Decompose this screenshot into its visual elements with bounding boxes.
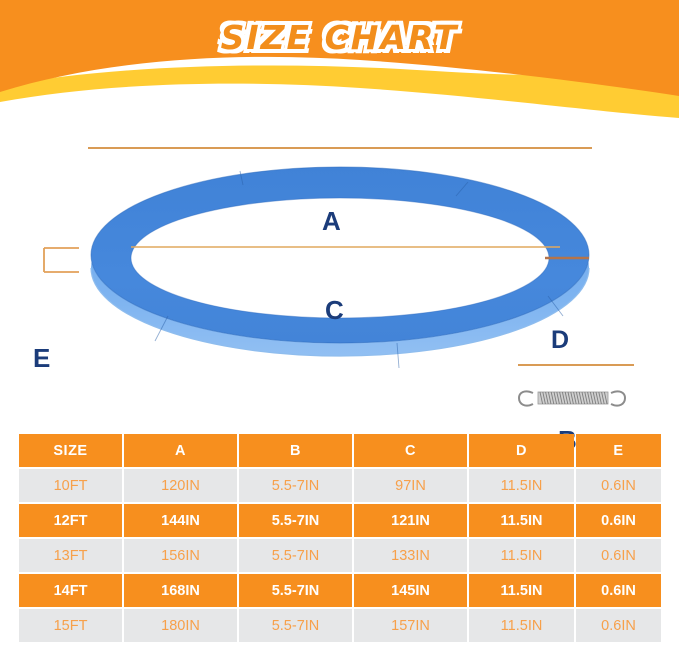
cell-d: 11.5IN bbox=[469, 539, 574, 572]
size-table-container: SIZE A B C D E 10FT 120IN 5.5-7IN 97IN 1… bbox=[17, 432, 657, 644]
cell-size: 12FT bbox=[19, 504, 122, 537]
cell-size: 15FT bbox=[19, 609, 122, 642]
cell-a: 144IN bbox=[124, 504, 237, 537]
cell-c: 97IN bbox=[354, 469, 467, 502]
column-header-a: A bbox=[124, 434, 237, 467]
column-header-size: SIZE bbox=[19, 434, 122, 467]
size-chart-page: SIZE CHART bbox=[0, 0, 679, 666]
cell-e: 0.6IN bbox=[576, 469, 661, 502]
cell-d: 11.5IN bbox=[469, 504, 574, 537]
size-chart-table: SIZE A B C D E 10FT 120IN 5.5-7IN 97IN 1… bbox=[17, 432, 663, 644]
cell-a: 156IN bbox=[124, 539, 237, 572]
column-header-d: D bbox=[469, 434, 574, 467]
table-header-row: SIZE A B C D E bbox=[19, 434, 661, 467]
column-header-b: B bbox=[239, 434, 352, 467]
cell-c: 145IN bbox=[354, 574, 467, 607]
cell-b: 5.5-7IN bbox=[239, 539, 352, 572]
cell-e: 0.6IN bbox=[576, 539, 661, 572]
cell-a: 120IN bbox=[124, 469, 237, 502]
cell-d: 11.5IN bbox=[469, 574, 574, 607]
trampoline-diagram-svg bbox=[0, 100, 679, 425]
table-row: 15FT 180IN 5.5-7IN 157IN 11.5IN 0.6IN bbox=[19, 609, 661, 642]
cell-size: 13FT bbox=[19, 539, 122, 572]
cell-a: 168IN bbox=[124, 574, 237, 607]
cell-size: 14FT bbox=[19, 574, 122, 607]
cell-b: 5.5-7IN bbox=[239, 469, 352, 502]
cell-b: 5.5-7IN bbox=[239, 609, 352, 642]
trampoline-diagram: A C D E B bbox=[0, 100, 679, 425]
cell-e: 0.6IN bbox=[576, 504, 661, 537]
column-header-e: E bbox=[576, 434, 661, 467]
cell-e: 0.6IN bbox=[576, 574, 661, 607]
table-row: 12FT 144IN 5.5-7IN 121IN 11.5IN 0.6IN bbox=[19, 504, 661, 537]
cell-d: 11.5IN bbox=[469, 609, 574, 642]
cell-d: 11.5IN bbox=[469, 469, 574, 502]
column-header-c: C bbox=[354, 434, 467, 467]
cell-b: 5.5-7IN bbox=[239, 504, 352, 537]
cell-e: 0.6IN bbox=[576, 609, 661, 642]
table-row: 14FT 168IN 5.5-7IN 145IN 11.5IN 0.6IN bbox=[19, 574, 661, 607]
cell-a: 180IN bbox=[124, 609, 237, 642]
cell-size: 10FT bbox=[19, 469, 122, 502]
pad-top-surface bbox=[0, 100, 679, 425]
cell-c: 157IN bbox=[354, 609, 467, 642]
table-row: 13FT 156IN 5.5-7IN 133IN 11.5IN 0.6IN bbox=[19, 539, 661, 572]
cell-b: 5.5-7IN bbox=[239, 574, 352, 607]
cell-c: 133IN bbox=[354, 539, 467, 572]
table-row: 10FT 120IN 5.5-7IN 97IN 11.5IN 0.6IN bbox=[19, 469, 661, 502]
cell-c: 121IN bbox=[354, 504, 467, 537]
